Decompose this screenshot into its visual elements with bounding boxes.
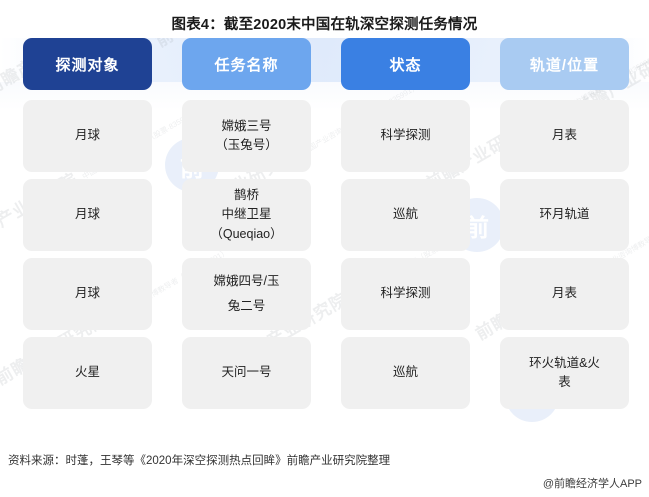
table-row: 火星 天问一号 巡航 环火轨道&火 表 xyxy=(23,337,629,409)
cell-orbit: 环月轨道 xyxy=(500,179,629,251)
cell-status: 科学探测 xyxy=(341,258,470,330)
cell-status: 巡航 xyxy=(341,179,470,251)
credit-label: @前瞻经济学人APP xyxy=(543,475,642,491)
table-row: 月球 鹊桥 中继卫星 （Queqiao） 巡航 环月轨道 xyxy=(23,179,629,251)
column-header-mission[interactable]: 任务名称 xyxy=(182,38,311,90)
cell-orbit: 月表 xyxy=(500,100,629,172)
deep-space-missions-table: 探测对象 任务名称 状态 轨道/位置 月球 嫦娥三号 （玉兔号） 科学探测 月表… xyxy=(23,38,629,416)
cell-object: 月球 xyxy=(23,100,152,172)
column-header-status[interactable]: 状态 xyxy=(341,38,470,90)
cell-mission: 嫦娥三号 （玉兔号） xyxy=(182,100,311,172)
cell-object: 火星 xyxy=(23,337,152,409)
cell-mission: 天问一号 xyxy=(182,337,311,409)
cell-object: 月球 xyxy=(23,258,152,330)
cell-orbit: 环火轨道&火 表 xyxy=(500,337,629,409)
column-header-object[interactable]: 探测对象 xyxy=(23,38,152,90)
cell-status: 巡航 xyxy=(341,337,470,409)
table-header-row: 探测对象 任务名称 状态 轨道/位置 xyxy=(23,38,629,90)
cell-object: 月球 xyxy=(23,179,152,251)
cell-orbit: 月表 xyxy=(500,258,629,330)
table-board: 前瞻产业研究院 中国产业咨询博教导者（股票·835991） 前瞻产业研究院 中国… xyxy=(0,38,649,433)
table-row: 月球 嫦娥三号 （玉兔号） 科学探测 月表 xyxy=(23,100,629,172)
cell-status: 科学探测 xyxy=(341,100,470,172)
column-header-orbit[interactable]: 轨道/位置 xyxy=(500,38,629,90)
cell-mission: 鹊桥 中继卫星 （Queqiao） xyxy=(182,179,311,251)
source-note: 资料来源：时蓬，王琴等《2020年深空探测热点回眸》前瞻产业研究院整理 xyxy=(8,452,390,468)
page-title: 图表4：截至2020末中国在轨深空探测任务情况 xyxy=(0,13,649,34)
cell-mission: 嫦娥四号/玉 兔二号 xyxy=(182,258,311,330)
table-row: 月球 嫦娥四号/玉 兔二号 科学探测 月表 xyxy=(23,258,629,330)
